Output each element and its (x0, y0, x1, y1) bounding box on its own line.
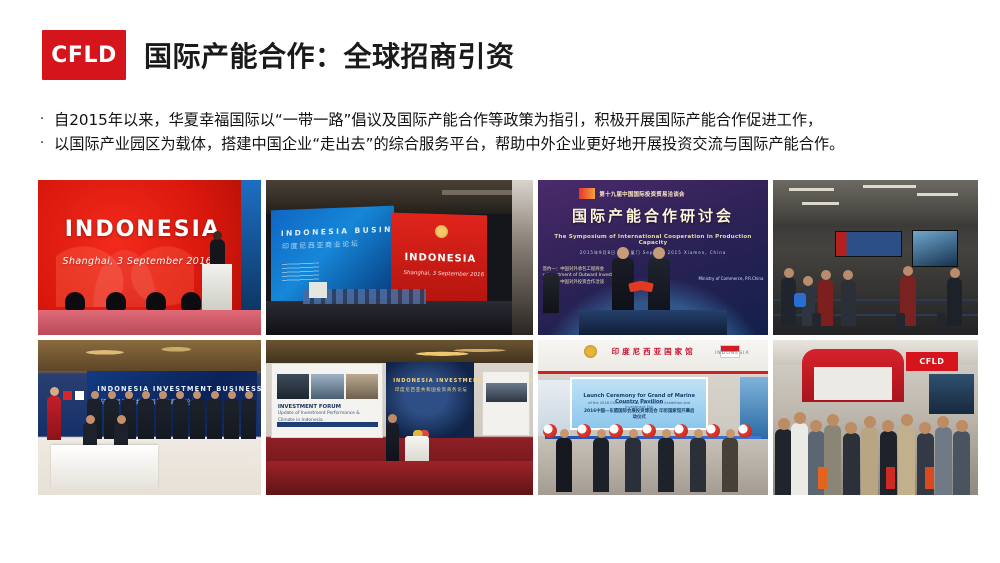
board-photo-thumbnails (277, 374, 378, 399)
stage-ornament-graphic (56, 183, 194, 307)
suitcase (937, 313, 946, 329)
tote-bags (773, 455, 978, 489)
hall-ceiling-lights (773, 180, 978, 227)
red-screen-title: INDONESIA (405, 252, 477, 265)
ribbon-cutters (538, 411, 768, 492)
forum-info-board: INVESTMENT FORUM Update of Investment Pe… (271, 363, 383, 437)
photo-airport-arrivals-hall (773, 180, 978, 335)
bullet-item: · 以国际产业园区为载体，搭建中国企业“走出去”的综合服务平台，帮助中外企业更好… (40, 132, 970, 156)
hostess-figure (47, 396, 61, 440)
suitcase (812, 313, 821, 329)
booth-cfld-sign: CFLD (906, 352, 957, 371)
photo-investment-business-forum-signing: INDONESIA INVESTMENT BUSINESS FORUM 印度尼西… (38, 340, 261, 495)
blue-screen-title-cn: 印度尼西亚商业论坛 (282, 238, 359, 251)
photo-grid: INDONESIA Shanghai, 3 September 2016 IND… (38, 180, 963, 495)
fair-name-cn: 第十九届中国国际投资贸易洽谈会 (599, 190, 684, 198)
red-screen-subtitle: Shanghai, 3 September 2016 (404, 270, 485, 278)
witness-row (87, 399, 256, 439)
red-carpet-stage (266, 461, 533, 495)
indonesia-emblem-icon (436, 225, 449, 238)
bystander-figure (543, 273, 559, 313)
sponsor-logos (63, 391, 84, 400)
photo-symposium-handshake: 第十九届中国国际投资贸易洽谈会 国际产能合作研讨会 The Symposium … (538, 180, 768, 335)
stage-area (266, 301, 533, 335)
led-title-cn: 印度尼西亚共和国投资商务论坛 (395, 387, 468, 393)
fair-branding: 第十九届中国国际投资贸易洽谈会 (579, 186, 726, 202)
symposium-title-en: The Symposium of International Cooperati… (545, 234, 761, 246)
photo-indonesia-business-forum-screens: INDONESIA BUSINESS FORUM 印度尼西亚商业论坛 INDON… (266, 180, 533, 335)
pavilion-name-cn: 印度尼西亚国家馆 (612, 346, 696, 357)
slide-header: CFLD 国际产能合作：全球招商引资 (42, 30, 515, 80)
bullet-item: · 自2015年以来，华夏幸福国际以“一带一路”倡议及国际产能合作等政策为指引，… (40, 108, 970, 132)
screen-headline: INDONESIA (65, 217, 221, 242)
photo-indonesia-shanghai-stage: INDONESIA Shanghai, 3 September 2016 (38, 180, 261, 335)
pavilion-header-band: 印度尼西亚国家馆 INDONESIA (538, 340, 768, 374)
bullet-marker: · (40, 132, 54, 156)
bullet-marker: · (40, 108, 54, 132)
secondary-info-board (482, 371, 530, 436)
booth-cfld-sign-text: CFLD (919, 357, 944, 366)
signatory-right (648, 258, 670, 316)
foreground-person (512, 180, 533, 335)
forum-led-screen: INDONESIA INVESTMENT BUSINESS FORUM 印度尼西… (386, 362, 474, 438)
bullet-text: 以国际产业园区为载体，搭建中国企业“走出去”的综合服务平台，帮助中外企业更好地开… (54, 132, 970, 156)
lectern (309, 282, 327, 298)
pavilion-brand: INDONESIA (715, 351, 750, 356)
signing-table (579, 310, 726, 335)
traveler-figure (841, 280, 856, 326)
signing-label-en-2: Ministry of Commerce, P.R.China (698, 276, 763, 281)
board-footer-bar (277, 422, 378, 426)
signing-table (51, 445, 158, 488)
symposium-title-cn: 国际产能合作研讨会 (550, 205, 757, 226)
fair-logo-icon (579, 188, 595, 199)
cfld-logo-text: CFLD (51, 43, 116, 68)
bullet-list: · 自2015年以来，华夏幸福国际以“一带一路”倡议及国际产能合作等政策为指引，… (40, 108, 970, 156)
stage-floor (38, 310, 261, 335)
photo-ribbon-cutting-ceremony: 印度尼西亚国家馆 INDONESIA Launch Ceremony for G… (538, 340, 768, 495)
bullet-text: 自2015年以来，华夏幸福国际以“一带一路”倡议及国际产能合作等政策为指引，积极… (54, 108, 970, 132)
backpack (794, 293, 806, 307)
cfld-logo: CFLD (42, 30, 126, 80)
stage-lights (56, 290, 217, 310)
ballroom-chandeliers (266, 340, 533, 363)
traveler-figure (947, 278, 962, 326)
signatory-left (612, 258, 634, 316)
slide-root: CFLD 国际产能合作：全球招商引资 · 自2015年以来，华夏幸福国际以“一带… (0, 0, 1000, 563)
photo-cfld-exhibition-booth: CFLD (773, 340, 978, 495)
page-title: 国际产能合作：全球招商引资 (144, 35, 515, 75)
board-title: INVESTMENT FORUM (278, 404, 341, 410)
ballroom-chandeliers (38, 340, 261, 371)
suitcase (896, 313, 905, 329)
booth-archway (802, 349, 905, 402)
photo-investment-forum-podium: INVESTMENT FORUM Update of Investment Pe… (266, 340, 533, 495)
indonesia-emblem-icon (584, 345, 597, 358)
screen-subline: Shanghai, 3 September 2016 (63, 256, 213, 267)
digital-signage-screen (835, 231, 903, 257)
advertising-screen (912, 230, 957, 267)
